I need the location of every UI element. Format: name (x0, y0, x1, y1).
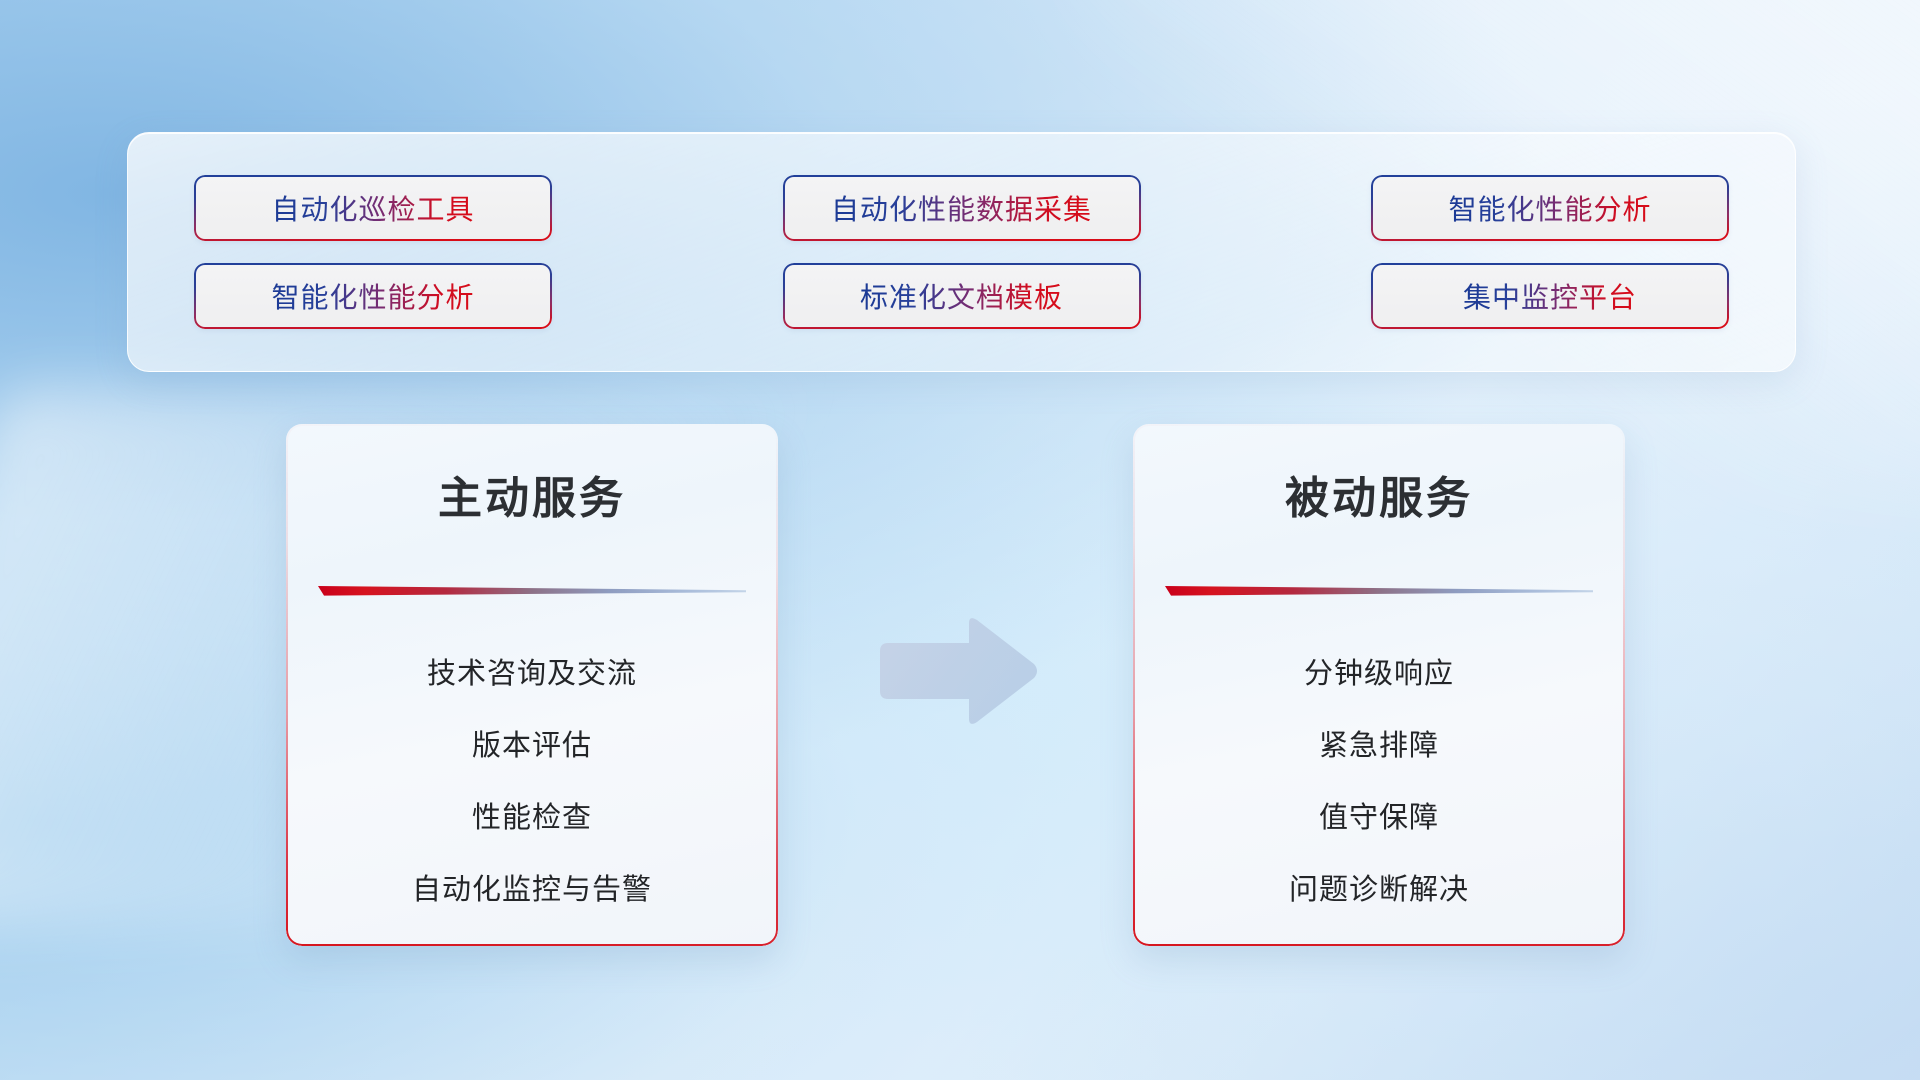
capabilities-panel: 自动化巡检工具 自动化性能数据采集 智能化性能分析 智能化性能分析 标准化文档模… (127, 132, 1796, 372)
service-list-item: 健康巡检 (472, 923, 592, 946)
service-list-item: 问题诊断解决 (1289, 851, 1469, 923)
service-item-list: 分钟级响应 紧急排障 值守保障 问题诊断解决 SLA式服务 (1133, 635, 1625, 946)
capability-chip[interactable]: 自动化巡检工具 (194, 175, 552, 241)
service-card-proactive: 主动服务 技术咨询及交流 版本评估 (286, 424, 778, 946)
card-divider (1165, 584, 1593, 597)
capability-chip-label: 集中监控平台 (1463, 276, 1637, 316)
card-title: 被动服务 (1285, 462, 1473, 526)
service-list-item: 性能检查 (472, 779, 592, 851)
capability-chip-label: 自动化性能数据采集 (831, 188, 1092, 228)
capabilities-row-2: 智能化性能分析 标准化文档模板 集中监控平台 (194, 263, 1729, 329)
card-divider (318, 584, 746, 597)
capability-chip-label: 自动化巡检工具 (271, 188, 474, 228)
capabilities-row-1: 自动化巡检工具 自动化性能数据采集 智能化性能分析 (194, 175, 1729, 241)
capability-chip[interactable]: 集中监控平台 (1371, 263, 1729, 329)
capability-chip[interactable]: 智能化性能分析 (194, 263, 552, 329)
capability-chip[interactable]: 自动化性能数据采集 (783, 175, 1141, 241)
service-item-list: 技术咨询及交流 版本评估 性能检查 自动化监控与告警 健康巡检 (286, 635, 778, 946)
service-list-item: 版本评估 (472, 707, 592, 779)
service-list-item: 自动化监控与告警 (412, 851, 652, 923)
card-title: 主动服务 (438, 462, 626, 526)
service-list-item: 分钟级响应 (1304, 635, 1454, 707)
service-card-reactive: 被动服务 分钟级响应 紧急排障 (1133, 424, 1625, 946)
arrow-right-icon (872, 615, 1040, 727)
service-list-item: SLA式服务 (1305, 923, 1453, 946)
service-list-item: 紧急排障 (1319, 707, 1439, 779)
capability-chip-label: 智能化性能分析 (1448, 188, 1651, 228)
service-list-item: 技术咨询及交流 (427, 635, 637, 707)
slide-canvas: 自动化巡检工具 自动化性能数据采集 智能化性能分析 智能化性能分析 标准化文档模… (0, 0, 1920, 1080)
service-list-item: 值守保障 (1319, 779, 1439, 851)
capability-chip-label: 标准化文档模板 (860, 276, 1063, 316)
capability-chip[interactable]: 智能化性能分析 (1371, 175, 1729, 241)
capability-chip-label: 智能化性能分析 (271, 276, 474, 316)
capability-chip[interactable]: 标准化文档模板 (783, 263, 1141, 329)
